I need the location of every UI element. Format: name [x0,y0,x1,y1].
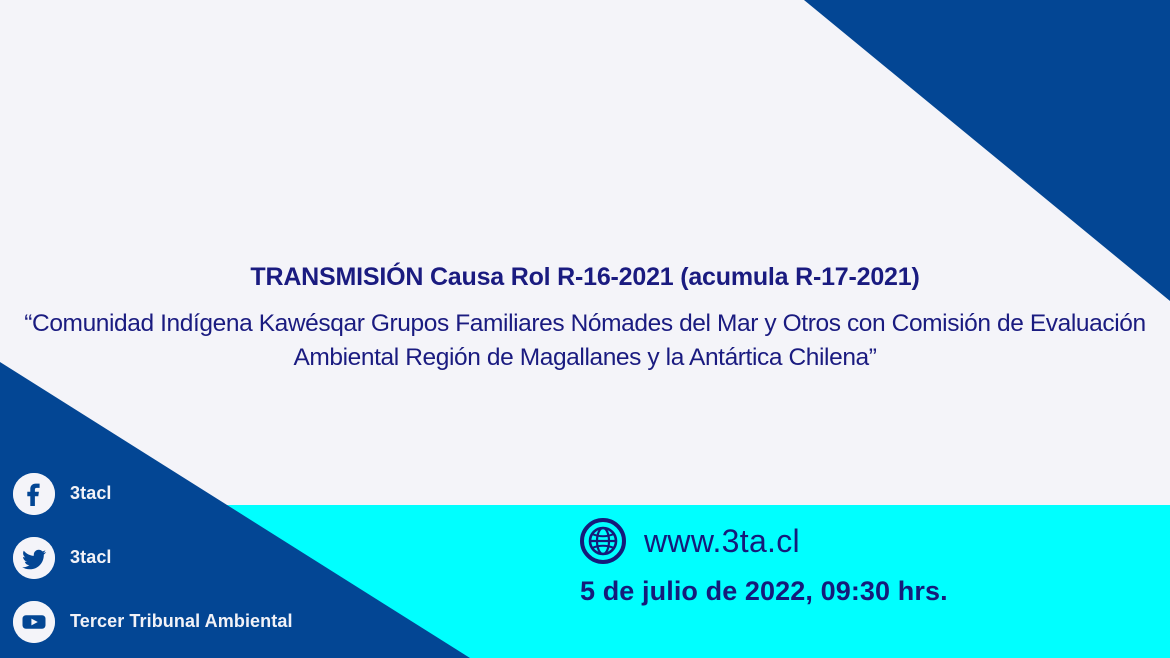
social-item-facebook[interactable]: 3tacl [13,472,293,515]
social-handle-youtube: Tercer Tribunal Ambiental [70,611,293,632]
blue-triangle-top-right [804,0,1170,301]
website-row[interactable]: www.3ta.cl [580,518,948,564]
case-subtitle: “Comunidad Indígena Kawésqar Grupos Fami… [0,307,1170,375]
social-handle-twitter: 3tacl [70,547,112,568]
social-item-twitter[interactable]: 3tacl [13,536,293,579]
social-item-youtube[interactable]: Tercer Tribunal Ambiental [13,600,293,643]
facebook-icon [13,473,55,515]
headline-block: TRANSMISIÓN Causa Rol R-16-2021 (acumula… [0,262,1170,375]
website-url[interactable]: www.3ta.cl [644,525,800,557]
twitter-icon [13,537,55,579]
globe-icon [580,518,626,564]
event-datetime: 5 de julio de 2022, 09:30 hrs. [580,578,948,605]
social-handle-facebook: 3tacl [70,483,112,504]
event-info-block: www.3ta.cl 5 de julio de 2022, 09:30 hrs… [580,518,948,605]
broadcast-announcement-poster: TRANSMISIÓN Causa Rol R-16-2021 (acumula… [0,0,1170,658]
page-title: TRANSMISIÓN Causa Rol R-16-2021 (acumula… [0,262,1170,293]
youtube-icon [13,601,55,643]
social-media-list: 3tacl 3tacl Tercer Tribunal Ambiental [13,472,293,643]
